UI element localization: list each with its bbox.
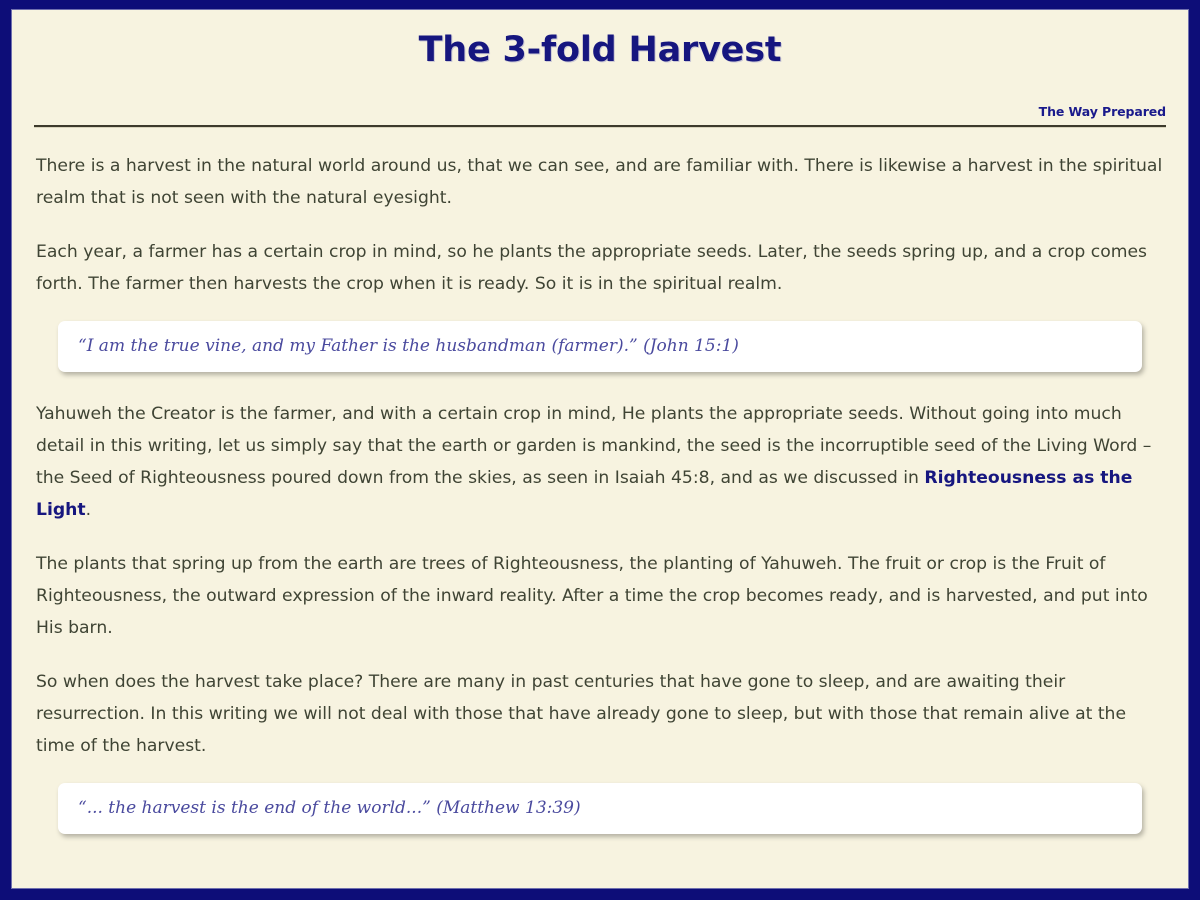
site-name-label: The Way Prepared (34, 70, 1166, 119)
scripture-quote-box-2: “... the harvest is the end of the world… (58, 783, 1142, 834)
document-body: There is a harvest in the natural world … (12, 128, 1188, 834)
page-title: The 3-fold Harvest (34, 10, 1166, 70)
scripture-quote-text-1: “I am the true vine, and my Father is th… (78, 334, 1122, 358)
paragraph-2: Each year, a farmer has a certain crop i… (36, 214, 1164, 300)
scripture-quote-text-2: “... the harvest is the end of the world… (78, 796, 1122, 820)
paragraph-5: So when does the harvest take place? The… (36, 644, 1164, 762)
paragraph-3-trailing-text: . (86, 500, 91, 520)
paragraph-1: There is a harvest in the natural world … (36, 128, 1164, 214)
paragraph-3: Yahuweh the Creator is the farmer, and w… (36, 376, 1164, 526)
document-sheet: The 3-fold Harvest The Way Prepared Ther… (12, 10, 1188, 888)
page-frame: The 3-fold Harvest The Way Prepared Ther… (0, 0, 1200, 900)
document-header: The 3-fold Harvest The Way Prepared (12, 10, 1188, 128)
scripture-quote-box-1: “I am the true vine, and my Father is th… (58, 321, 1142, 372)
paragraph-4: The plants that spring up from the earth… (36, 526, 1164, 644)
